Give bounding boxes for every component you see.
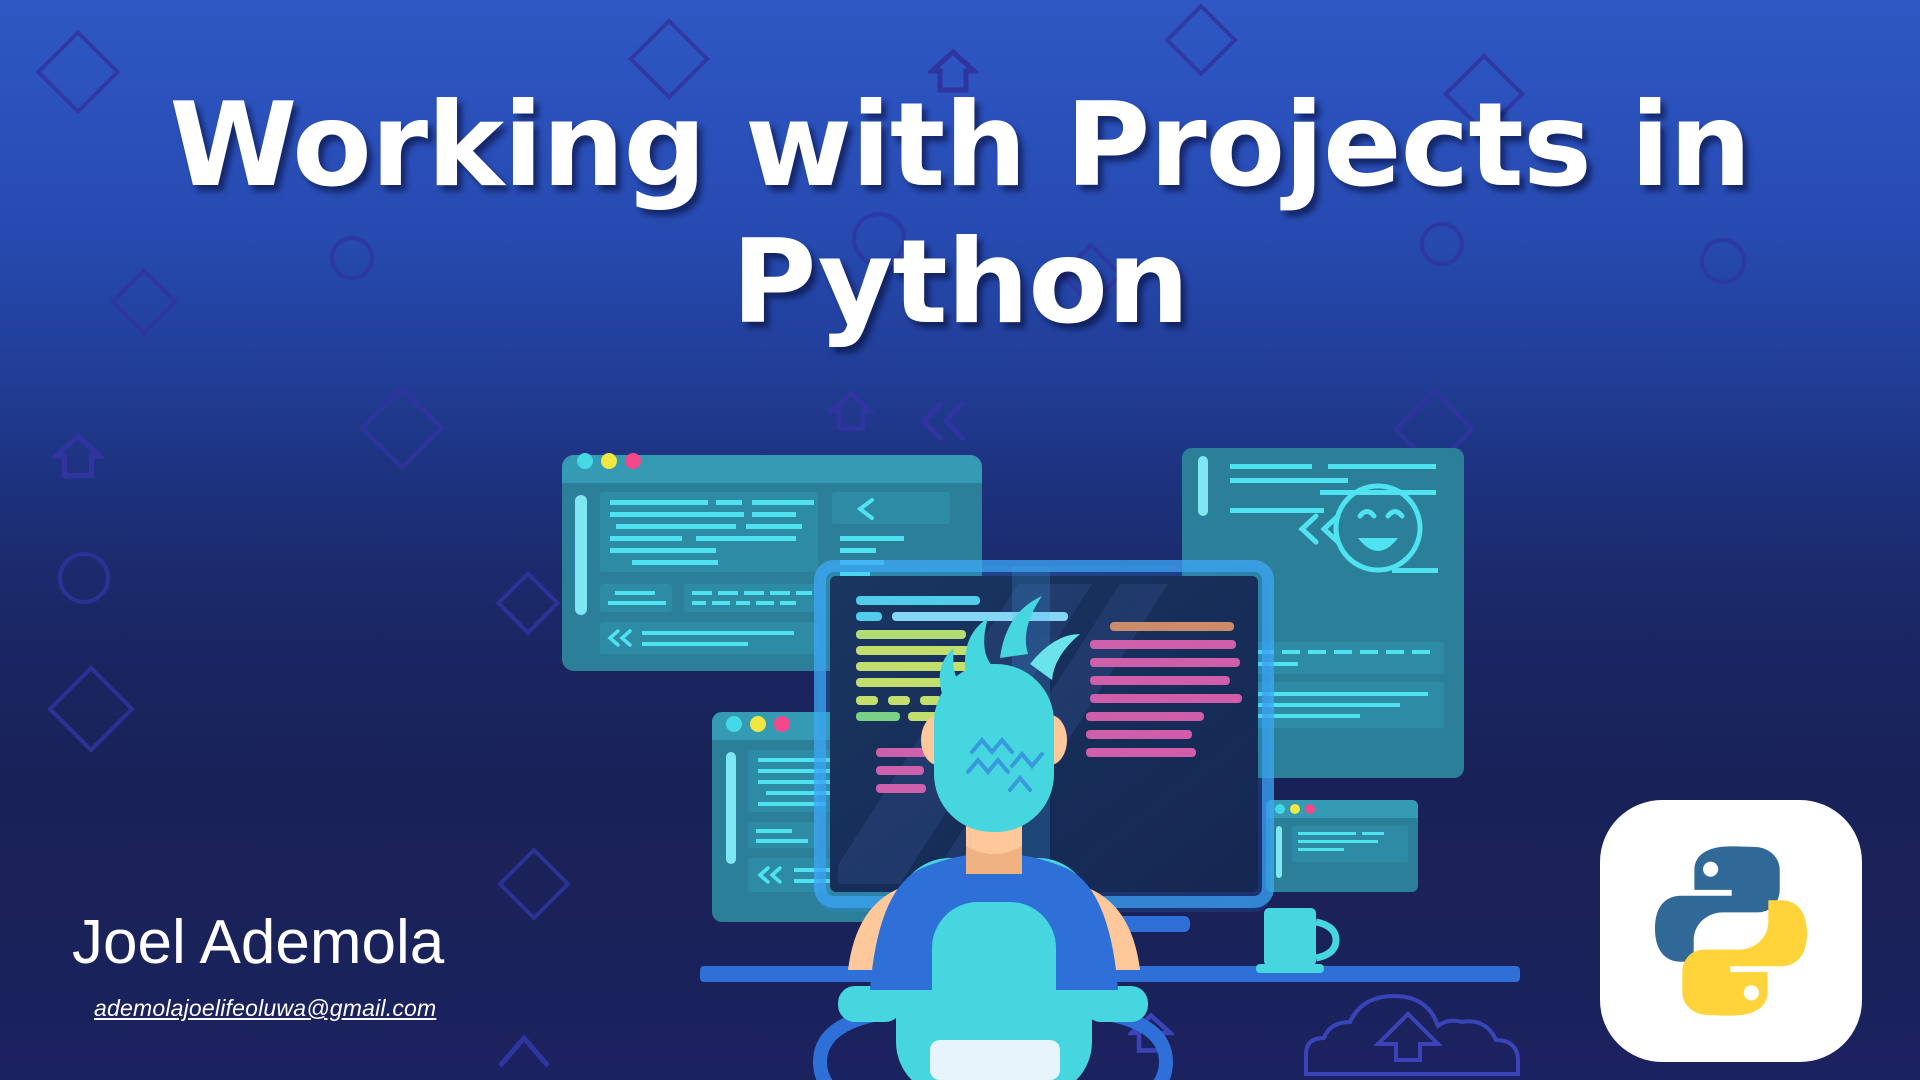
- coffee-mug: [1256, 908, 1336, 973]
- presentation-slide: Working with Projects in Python Joel Ade…: [0, 0, 1920, 1080]
- window-small-right: [1266, 800, 1418, 892]
- author-name: Joel Ademola: [72, 909, 444, 977]
- chair-cushion: [930, 1040, 1060, 1080]
- author-email-link[interactable]: ademolajoelifeoluwa@gmail.com: [94, 995, 436, 1022]
- page-title: Working with Projects in Python: [0, 78, 1920, 352]
- title-block: Working with Projects in Python: [0, 78, 1920, 352]
- python-logo: [1600, 800, 1862, 1062]
- author-block: Joel Ademola ademolajoelifeoluwa@gmail.c…: [72, 909, 444, 1022]
